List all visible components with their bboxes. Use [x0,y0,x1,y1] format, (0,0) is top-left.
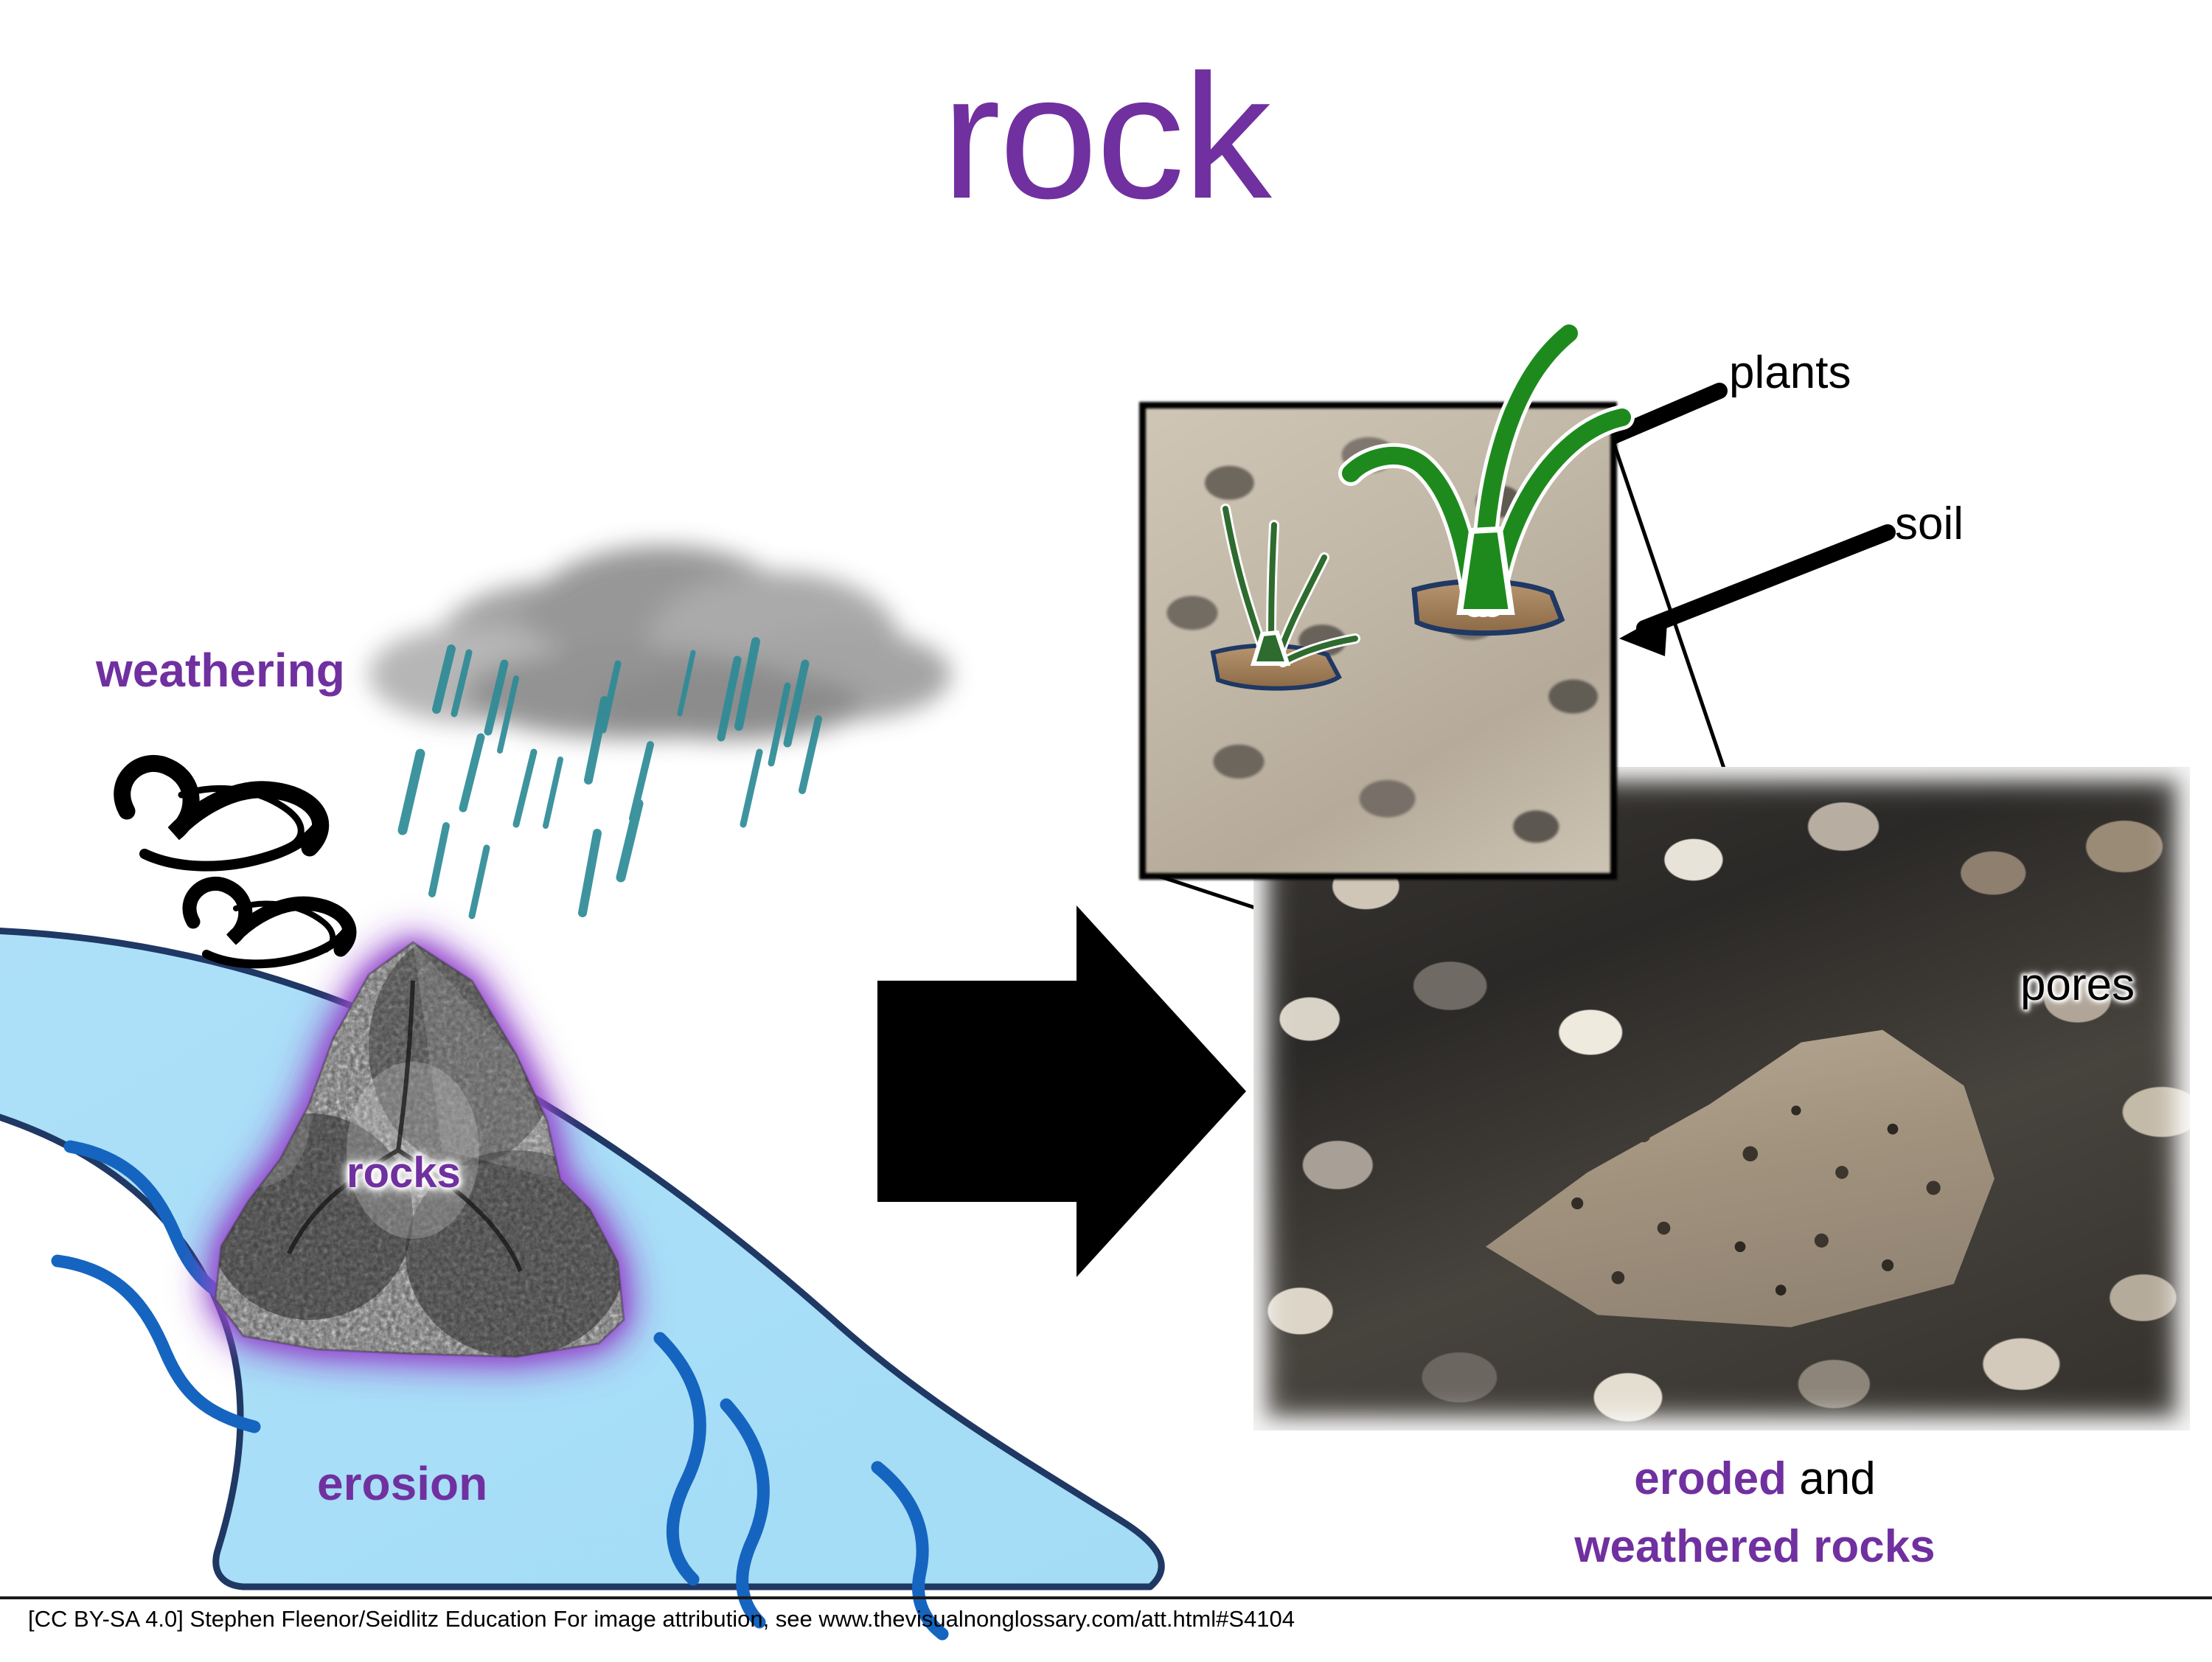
caption-line1-plain: and [1787,1453,1876,1504]
label-plants: plants [1729,347,1851,399]
label-soil: soil [1895,498,1964,550]
wind-swirl-icon-top [122,763,321,866]
footer-attribution: [CC BY-SA 4.0] Stephen Fleenor/Seidlitz … [28,1606,1295,1633]
label-rocks: rocks [347,1148,461,1197]
inset-zoom-photo [1139,402,1617,880]
caption-line1-bold: eroded [1634,1453,1787,1504]
label-pores: pores [2020,959,2135,1011]
label-erosion: erosion [317,1456,487,1511]
caption-line2-bold: weathered rocks [1574,1521,1935,1572]
diagram-canvas: rock [0,0,2212,1659]
right-arrow-icon [877,905,1246,1277]
wind-swirl-icon-bottom [189,883,349,964]
label-weathering: weathering [96,643,345,698]
arrow-soil [1619,532,1888,656]
caption-eroded-weathered-rocks: eroded and weathered rocks [1445,1445,2065,1581]
